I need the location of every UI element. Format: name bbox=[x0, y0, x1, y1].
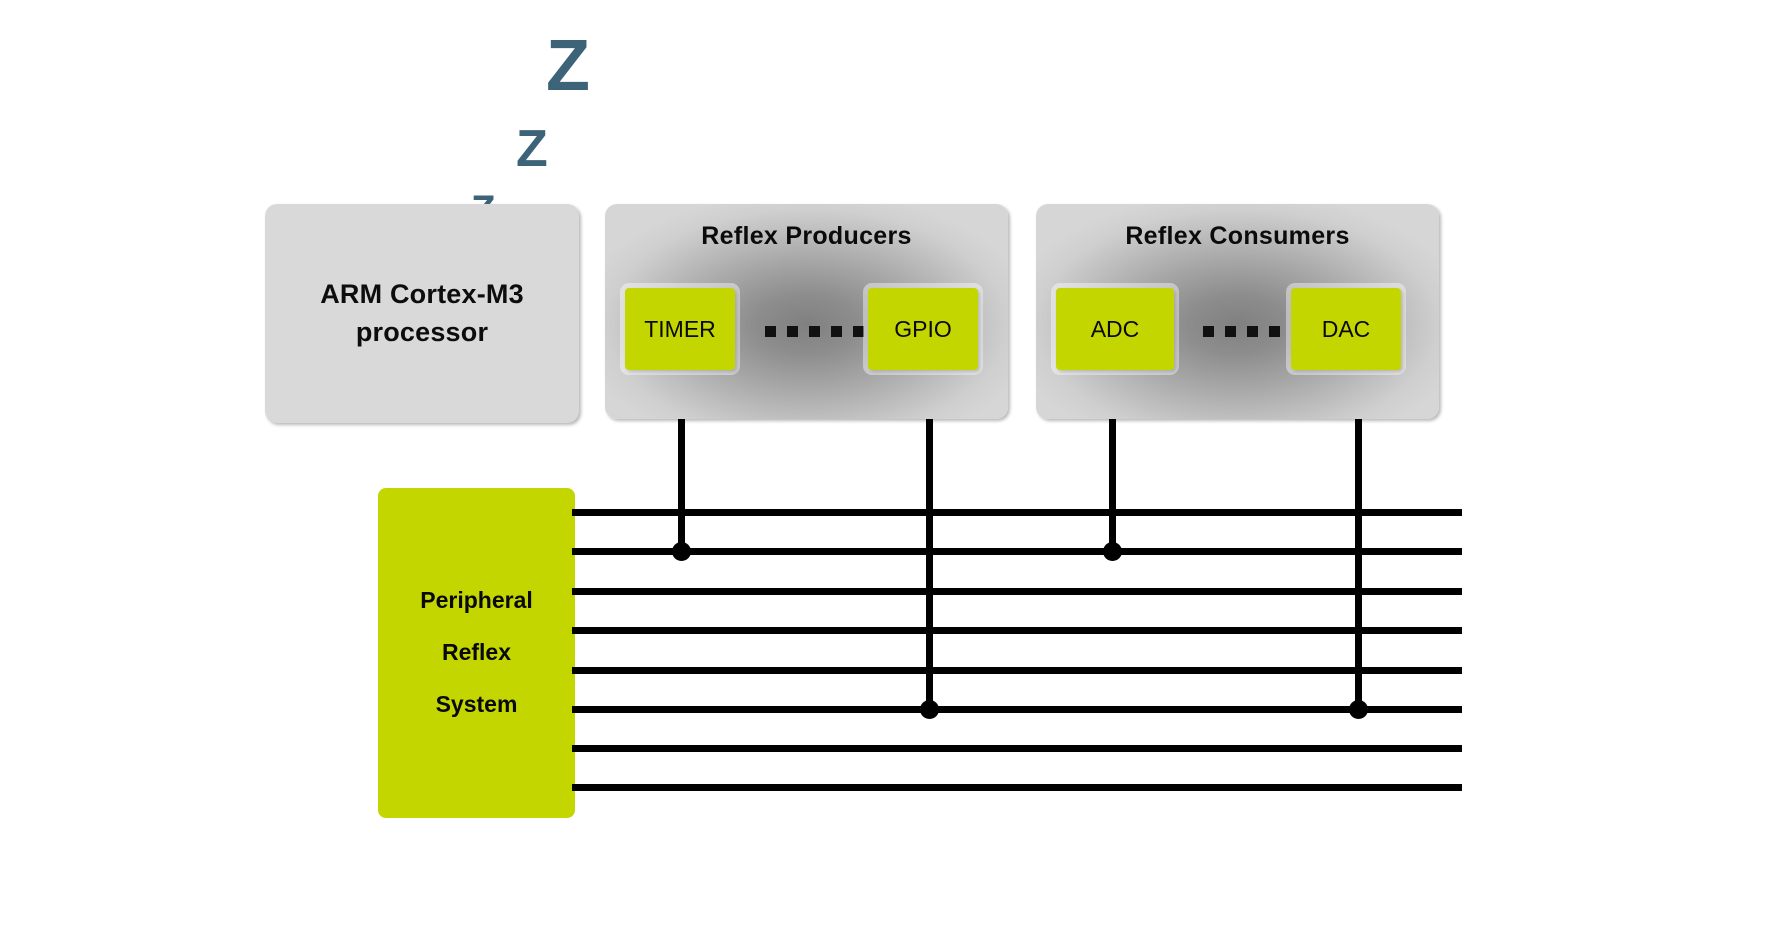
junction-dot-gpio bbox=[920, 700, 939, 719]
bus-channel-3 bbox=[572, 627, 1462, 634]
sleep-z-icon-large: Z bbox=[546, 30, 590, 102]
peripheral-chip-dac[interactable]: DAC bbox=[1291, 288, 1401, 370]
reflex-consumers-title: Reflex Consumers bbox=[1036, 222, 1439, 251]
chip-label-adc: ADC bbox=[1091, 316, 1140, 343]
prs-label-line2: Reflex bbox=[420, 627, 533, 679]
sleep-z-icon-medium: Z bbox=[516, 123, 548, 175]
cpu-label-group: ARM Cortex-M3 processor bbox=[320, 276, 524, 351]
cpu-label-line2: processor bbox=[320, 314, 524, 351]
junction-dot-adc bbox=[1103, 542, 1122, 561]
prs-label-line3: System bbox=[420, 679, 533, 731]
reflex-producers-title: Reflex Producers bbox=[605, 222, 1008, 251]
bus-channel-1 bbox=[572, 548, 1462, 555]
bus-channel-2 bbox=[572, 588, 1462, 595]
reflex-producers-group[interactable]: Reflex Producers TIMER GPIO bbox=[605, 204, 1008, 419]
chip-label-gpio: GPIO bbox=[894, 316, 952, 343]
drop-wire-gpio bbox=[926, 419, 933, 709]
diagram-canvas: Z Z Z ARM Cortex-M3 processor Reflex Pro… bbox=[0, 0, 1772, 947]
junction-dot-dac bbox=[1349, 700, 1368, 719]
prs-label-line1: Peripheral bbox=[420, 575, 533, 627]
peripheral-chip-gpio[interactable]: GPIO bbox=[868, 288, 978, 370]
chip-label-timer: TIMER bbox=[644, 316, 716, 343]
drop-wire-timer bbox=[678, 419, 685, 551]
drop-wire-adc bbox=[1109, 419, 1116, 551]
cpu-label-line1: ARM Cortex-M3 bbox=[320, 276, 524, 313]
reflex-consumers-group[interactable]: Reflex Consumers ADC DAC bbox=[1036, 204, 1439, 419]
peripheral-reflex-system-block[interactable]: Peripheral Reflex System bbox=[378, 488, 575, 818]
bus-channel-7 bbox=[572, 784, 1462, 791]
bus-channel-4 bbox=[572, 667, 1462, 674]
bus-channel-6 bbox=[572, 745, 1462, 752]
peripheral-chip-adc[interactable]: ADC bbox=[1056, 288, 1174, 370]
chip-label-dac: DAC bbox=[1322, 316, 1371, 343]
bus-channel-0 bbox=[572, 509, 1462, 516]
junction-dot-timer bbox=[672, 542, 691, 561]
prs-label-group: Peripheral Reflex System bbox=[420, 575, 533, 730]
bus-channel-5 bbox=[572, 706, 1462, 713]
drop-wire-dac bbox=[1355, 419, 1362, 709]
arm-cortex-m3-processor-block[interactable]: ARM Cortex-M3 processor bbox=[265, 204, 579, 423]
peripheral-chip-timer[interactable]: TIMER bbox=[625, 288, 735, 370]
